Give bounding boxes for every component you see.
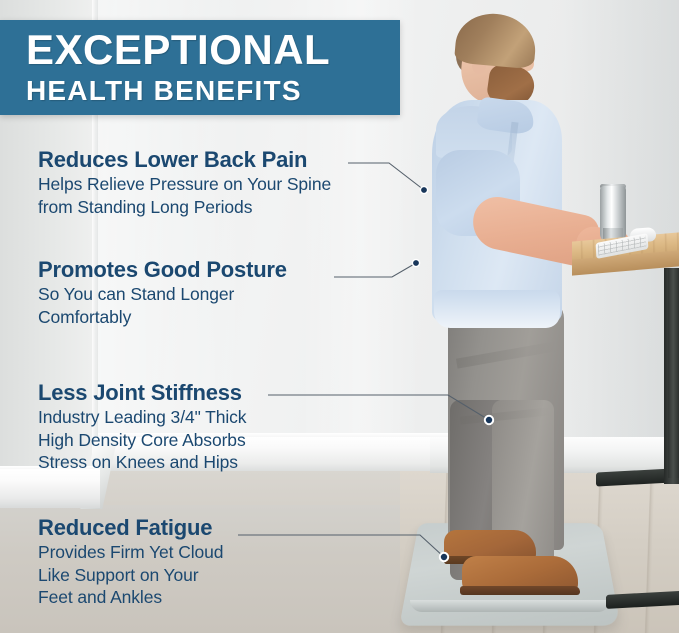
baseboard-left: [0, 470, 100, 508]
benefit-line: Feet and Ankles: [38, 587, 223, 607]
benefit-line: Helps Relieve Pressure on Your Spine: [38, 174, 331, 194]
person-shirt-hem: [434, 290, 560, 328]
benefit-block-reduced-fatigue: Reduced Fatigue Provides Firm Yet Cloud …: [38, 516, 223, 608]
header-banner: EXCEPTIONAL HEALTH BENEFITS: [0, 20, 400, 115]
benefit-line: So You can Stand Longer: [38, 284, 287, 304]
benefit-line: Like Support on Your: [38, 565, 223, 585]
benefit-line: High Density Core Absorbs: [38, 430, 246, 450]
benefit-title: Reduced Fatigue: [38, 516, 223, 540]
benefit-block-promotes-good-posture: Promotes Good Posture So You can Stand L…: [38, 258, 287, 327]
banner-title-primary: EXCEPTIONAL: [26, 29, 400, 71]
benefit-block-reduces-lower-back-pain: Reduces Lower Back Pain Helps Relieve Pr…: [38, 148, 331, 217]
person-shoe-front-sole: [460, 586, 580, 595]
benefit-title: Promotes Good Posture: [38, 258, 287, 282]
benefit-line: Stress on Knees and Hips: [38, 452, 246, 472]
desk-leg-upper: [668, 268, 679, 478]
benefit-title: Less Joint Stiffness: [38, 381, 246, 405]
product-infographic: EXCEPTIONAL HEALTH BENEFITS Reduces Lowe…: [0, 0, 679, 633]
person-hair: [454, 11, 538, 70]
anti-fatigue-mat-edge: [410, 600, 610, 612]
benefit-line: Comfortably: [38, 307, 287, 327]
benefit-block-less-joint-stiffness: Less Joint Stiffness Industry Leading 3/…: [38, 381, 246, 473]
benefit-title: Reduces Lower Back Pain: [38, 148, 331, 172]
banner-title-secondary: HEALTH BENEFITS: [26, 76, 400, 105]
benefit-line: Provides Firm Yet Cloud: [38, 542, 223, 562]
desk-foot-front: [606, 589, 679, 609]
benefit-line: from Standing Long Periods: [38, 197, 331, 217]
benefit-line: Industry Leading 3/4" Thick: [38, 407, 246, 427]
scene-foreground: [400, 0, 679, 633]
